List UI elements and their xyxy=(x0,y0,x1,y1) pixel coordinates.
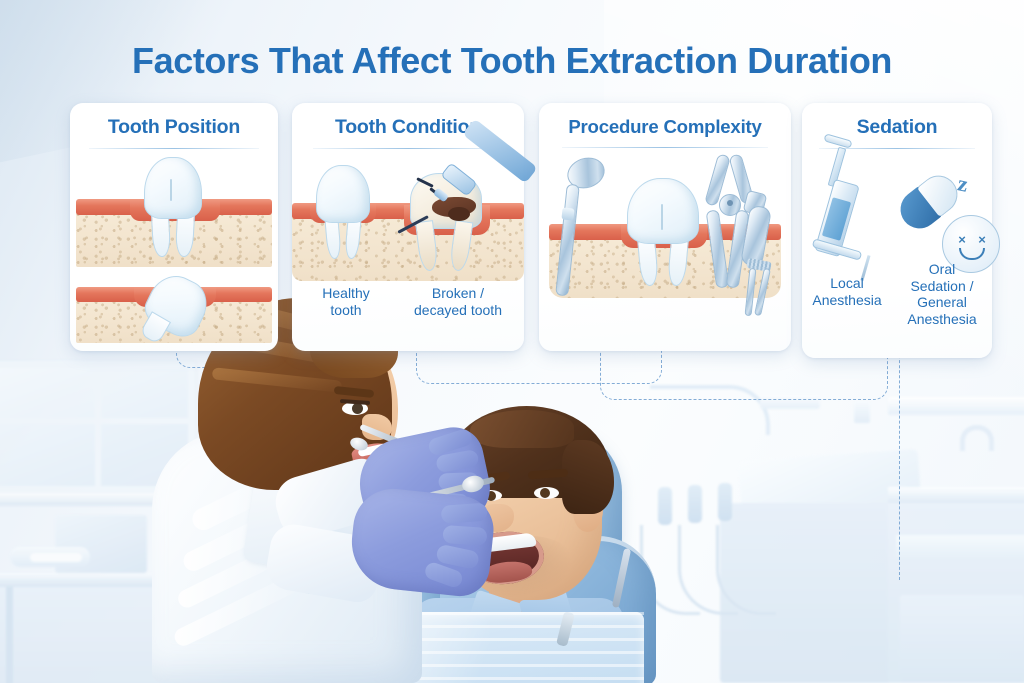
card-illustration-sedation: z × × LocalAnesthesia Oral Sedation / Ge… xyxy=(802,149,992,349)
label-healthy-tooth: Healthytooth xyxy=(300,285,392,318)
card-illustration-procedure-complexity xyxy=(539,148,791,343)
card-title-tooth-position: Tooth Position xyxy=(70,103,278,148)
card-tooth-position[interactable]: Tooth Position xyxy=(70,103,278,351)
card-procedure-complexity[interactable]: Procedure Complexity xyxy=(539,103,791,351)
sleep-z-icon: z xyxy=(955,170,970,197)
label-broken-decayed-tooth: Broken /decayed tooth xyxy=(400,285,516,318)
card-illustration-tooth-position xyxy=(70,149,278,344)
factor-cards: Tooth Position Toot xyxy=(0,0,1024,683)
card-sedation[interactable]: Sedation z × × xyxy=(802,103,992,358)
label-oral-sedation-general-anesthesia: Oral Sedation / General Anesthesia xyxy=(894,261,990,327)
decay-lesion xyxy=(448,207,470,221)
label-local-anesthesia: LocalAnesthesia xyxy=(804,275,890,308)
card-illustration-tooth-condition: Healthytooth Broken /decayed tooth xyxy=(292,149,524,344)
card-title-procedure-complexity: Procedure Complexity xyxy=(539,103,791,147)
card-tooth-condition[interactable]: Tooth Condition xyxy=(292,103,524,351)
